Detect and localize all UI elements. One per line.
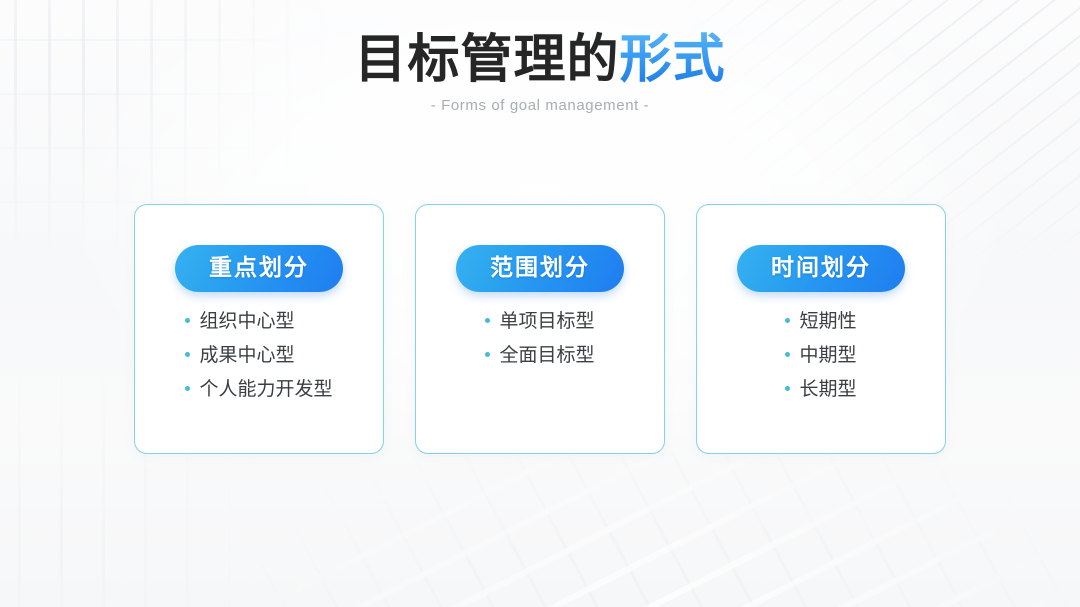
page-title: 目标管理的形式 <box>0 32 1080 88</box>
bullet-dot-icon <box>485 318 490 323</box>
page-title-accent: 形式 <box>620 31 726 89</box>
card-item-list: 单项目标型 全面目标型 <box>485 312 594 380</box>
slide-header: 目标管理的形式 - Forms of goal management - <box>0 32 1080 114</box>
card-scope-division[interactable]: 范围划分 单项目标型 全面目标型 <box>415 204 665 454</box>
slide-canvas: 目标管理的形式 - Forms of goal management - 重点划… <box>0 0 1080 607</box>
list-item-label: 长期型 <box>799 380 856 399</box>
list-item-label: 全面目标型 <box>499 346 594 365</box>
list-item-label: 个人能力开发型 <box>199 380 332 399</box>
list-item: 成果中心型 <box>185 346 332 365</box>
page-subtitle: - Forms of goal management - <box>0 97 1080 114</box>
list-item: 单项目标型 <box>485 312 594 331</box>
card-key-division[interactable]: 重点划分 组织中心型 成果中心型 个人能力开发型 <box>134 204 384 454</box>
list-item: 组织中心型 <box>185 312 332 331</box>
bullet-dot-icon <box>785 352 790 357</box>
card-item-list: 短期性 中期型 长期型 <box>785 312 856 414</box>
page-title-primary: 目标管理的 <box>354 31 619 89</box>
card-item-list: 组织中心型 成果中心型 个人能力开发型 <box>185 312 332 414</box>
card-heading-pill[interactable]: 时间划分 <box>737 245 905 292</box>
list-item-label: 成果中心型 <box>199 346 294 365</box>
bullet-dot-icon <box>185 352 190 357</box>
card-heading-label: 范围划分 <box>482 256 598 279</box>
card-heading-pill[interactable]: 重点划分 <box>175 245 343 292</box>
card-heading-pill[interactable]: 范围划分 <box>456 245 624 292</box>
bullet-dot-icon <box>185 318 190 323</box>
list-item: 全面目标型 <box>485 346 594 365</box>
list-item: 个人能力开发型 <box>185 380 332 399</box>
list-item: 长期型 <box>785 380 856 399</box>
list-item-label: 组织中心型 <box>199 312 294 331</box>
card-time-division[interactable]: 时间划分 短期性 中期型 长期型 <box>696 204 946 454</box>
bullet-dot-icon <box>785 386 790 391</box>
list-item-label: 单项目标型 <box>499 312 594 331</box>
list-item: 短期性 <box>785 312 856 331</box>
list-item-label: 短期性 <box>799 312 856 331</box>
list-item: 中期型 <box>785 346 856 365</box>
bullet-dot-icon <box>785 318 790 323</box>
list-item-label: 中期型 <box>799 346 856 365</box>
bullet-dot-icon <box>485 352 490 357</box>
card-group: 重点划分 组织中心型 成果中心型 个人能力开发型 范围划分 <box>134 204 946 454</box>
card-heading-label: 时间划分 <box>763 256 879 279</box>
bullet-dot-icon <box>185 386 190 391</box>
card-heading-label: 重点划分 <box>201 256 317 279</box>
